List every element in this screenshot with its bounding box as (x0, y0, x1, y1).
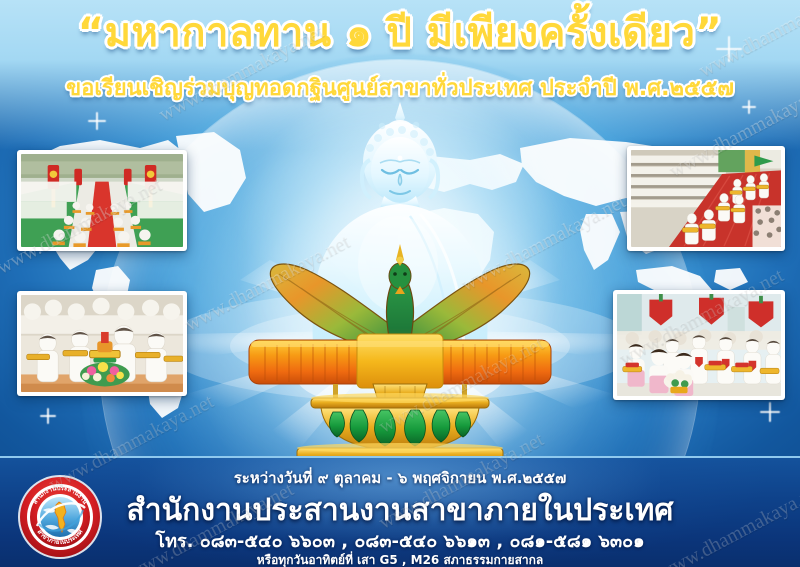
organisation-logo: สำนักงานประสานงาน สาขาภายในประเทศ (17, 474, 103, 560)
photo-top-left-image (21, 154, 183, 247)
poster-headline: “มหากาลทาน ๑ ปี มีเพียงครั้งเดียว” (0, 12, 800, 54)
bottom-info-band: ระหว่างวันที่ ๙ ตุลาคม - ๖ พฤศจิกายน พ.ศ… (0, 456, 800, 567)
photo-bottom-left-image (21, 295, 183, 392)
photo-bottom-left (17, 291, 187, 396)
photo-top-right (627, 146, 785, 251)
poster-canvas: ระหว่างวันที่ ๙ ตุลาคม - ๖ พฤศจิกายน พ.ศ… (0, 0, 800, 567)
photo-top-right-image (631, 150, 781, 247)
location-note: หรือทุกวันอาทิตย์ที่ เสา G5 , M26 สภาธรร… (0, 551, 800, 567)
kathina-robe-pedestal (235, 326, 565, 466)
photo-bottom-right (613, 290, 785, 400)
photo-bottom-right-image (617, 294, 781, 396)
poster-subheadline: ขอเรียนเชิญร่วมบุญทอดกฐินศูนย์สาขาทั่วปร… (0, 70, 800, 105)
photo-top-left (17, 150, 187, 251)
